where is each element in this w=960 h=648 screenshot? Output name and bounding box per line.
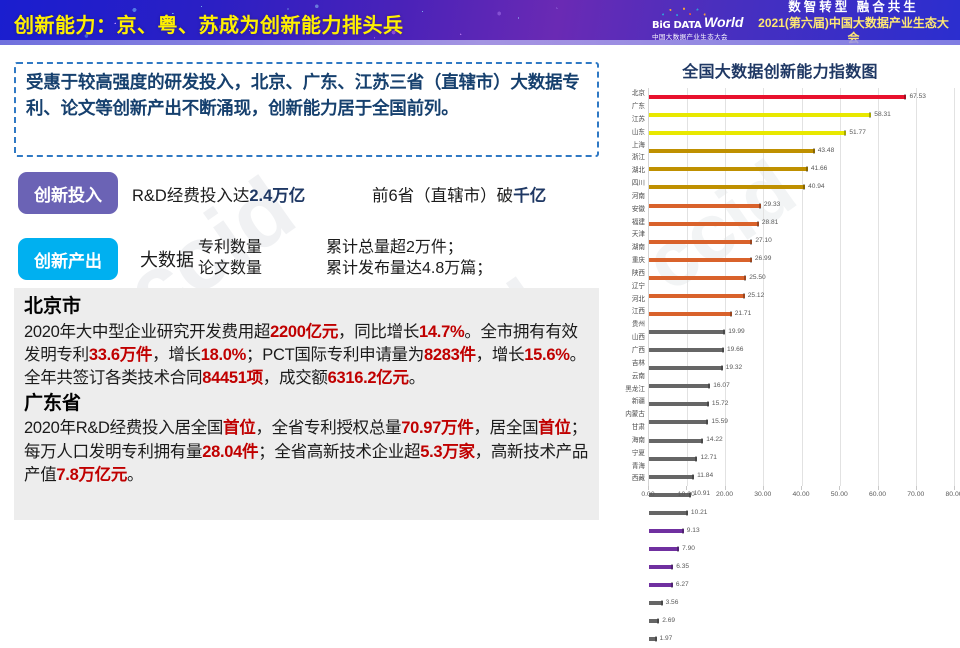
chart-bar-value-label: 51.77 xyxy=(849,130,866,137)
innovation-input-metric-b: 前6省（直辖市）破千亿 xyxy=(372,182,546,206)
chart-bar-row[interactable]: 2.69 xyxy=(649,612,954,630)
chart-axis-tick-label: 60.00 xyxy=(869,491,886,498)
output-label-patents: 专利数量 xyxy=(198,238,262,259)
province-detail-title: 广东省 xyxy=(24,391,589,418)
chart-bar-value-label: 6.35 xyxy=(676,564,689,571)
chart-bar-row[interactable]: 12.71 xyxy=(649,450,954,468)
chart-category-label: 广东 xyxy=(606,101,648,114)
chart-axis-tick xyxy=(801,486,802,490)
slogan-line-2: 2021(第六届)中国大数据产业生态大会 xyxy=(755,16,952,45)
chart-bar-row[interactable]: 7.90 xyxy=(649,540,954,558)
chart-category-label: 青海 xyxy=(606,460,648,473)
chart-category-label: 河北 xyxy=(606,294,648,307)
logo-world-text: World xyxy=(704,14,743,30)
chart-bar-row[interactable]: 28.81 xyxy=(649,215,954,233)
chart-axis-tick-label: 70.00 xyxy=(907,491,924,498)
chart-bar[interactable] xyxy=(649,131,846,135)
chart-bar-row[interactable]: 25.50 xyxy=(649,269,954,287)
chart-axis-tick xyxy=(839,486,840,490)
highlight-value: 28.04件 xyxy=(202,443,258,461)
output-label-papers: 论文数量 xyxy=(198,259,262,280)
chart-bar-row[interactable]: 51.77 xyxy=(649,124,954,142)
chart-bar-row[interactable]: 25.12 xyxy=(649,287,954,305)
chart-title: 全国大数据创新能力指数图 xyxy=(606,58,954,82)
chart-category-label: 西藏 xyxy=(606,473,648,486)
output-subject-label: 大数据 xyxy=(140,246,194,272)
chart-bar-value-label: 29.33 xyxy=(764,202,781,209)
highlight-value: 15.6% xyxy=(524,346,569,364)
chart-category-axis: 北京广东江苏山东上海浙江湖北四川河南安徽福建天津湖南重庆陕西辽宁河北江西贵州山西… xyxy=(606,88,648,486)
chart-category-label: 宁夏 xyxy=(606,448,648,461)
chart-bar[interactable] xyxy=(649,420,708,424)
page-title: 创新能力：京、粤、苏成为创新能力排头兵 xyxy=(14,9,404,38)
chart-category-label: 山西 xyxy=(606,332,648,345)
chart-bar-value-label: 19.32 xyxy=(726,365,743,372)
chart-bar-value-label: 3.56 xyxy=(666,600,679,607)
chart-bar-value-label: 21.71 xyxy=(735,311,752,318)
chart-bar-row[interactable]: 19.66 xyxy=(649,341,954,359)
chart-bar-row[interactable]: 58.31 xyxy=(649,106,954,124)
chart-bar-value-label: 25.12 xyxy=(748,293,765,300)
chart-category-label: 江苏 xyxy=(606,114,648,127)
chart-category-label: 吉林 xyxy=(606,358,648,371)
slide-header: 创新能力：京、粤、苏成为创新能力排头兵 BiG DATA World 中国大数据… xyxy=(0,0,960,45)
highlight-value: 8283件 xyxy=(424,346,476,364)
detail-text-run: ，增长 xyxy=(152,346,201,364)
detail-text-run: ，居全国 xyxy=(473,419,538,437)
chart-bar-row[interactable]: 16.07 xyxy=(649,377,954,395)
highlight-value: 2200亿元 xyxy=(270,323,338,341)
output-metric-values: 累计总量超2万件； 累计发布量达4.8万篇； xyxy=(326,238,492,280)
chart-bar-row[interactable]: 21.71 xyxy=(649,305,954,323)
chart-bar-value-label: 9.13 xyxy=(687,528,700,535)
highlight-value: 首位 xyxy=(223,419,255,437)
chart-bar-value-label: 26.99 xyxy=(755,256,772,263)
chart-category-label: 陕西 xyxy=(606,268,648,281)
chart-bar-row[interactable]: 41.66 xyxy=(649,160,954,178)
chart-category-label: 黑龙江 xyxy=(606,383,648,396)
chart-bar-value-label: 67.53 xyxy=(909,94,926,101)
chart-bar[interactable] xyxy=(649,402,709,406)
chart-bar[interactable] xyxy=(649,222,759,226)
chart-gridline xyxy=(954,88,955,486)
chart-axis-tick xyxy=(878,486,879,490)
highlight-value: 70.97万件 xyxy=(401,419,473,437)
chart-bar[interactable] xyxy=(649,167,808,171)
chart-category-label: 四川 xyxy=(606,178,648,191)
chart-bar-row[interactable]: 27.10 xyxy=(649,233,954,251)
chart-bar-value-label: 15.59 xyxy=(711,419,728,426)
chart-bar[interactable] xyxy=(649,511,688,515)
chart-bar-row[interactable]: 29.33 xyxy=(649,196,954,214)
chart-bar-row[interactable]: 19.32 xyxy=(649,359,954,377)
chart-category-label: 山东 xyxy=(606,127,648,140)
chart-axis-tick-label: 30.00 xyxy=(754,491,771,498)
chart-bar[interactable] xyxy=(649,204,761,208)
chart-panel: 全国大数据创新能力指数图 北京广东江苏山东上海浙江湖北四川河南安徽福建天津湖南重… xyxy=(606,58,954,530)
chart-bar[interactable] xyxy=(649,439,703,443)
chart-axis-tick xyxy=(763,486,764,490)
chart-bar-row[interactable]: 19.99 xyxy=(649,323,954,341)
chart-bar-value-label: 16.07 xyxy=(713,383,730,390)
chart-category-label: 河南 xyxy=(606,191,648,204)
chart-bars-container: 67.5358.3151.7743.4841.6640.9429.3328.81… xyxy=(648,88,954,486)
detail-text-run: ；全省高新技术企业超 xyxy=(258,443,420,461)
chart-bar[interactable] xyxy=(649,384,710,388)
detail-text-run: 2020年大中型企业研究开发费用超 xyxy=(24,323,270,341)
highlight-value: 33.6万件 xyxy=(89,346,152,364)
province-detail-body: 北京市2020年大中型企业研究开发费用超2200亿元，同比增长14.7%。全市拥… xyxy=(24,294,589,488)
chart-axis-tick xyxy=(648,486,649,490)
chart-bar-row[interactable]: 6.27 xyxy=(649,576,954,594)
chart-bar[interactable] xyxy=(649,294,745,298)
detail-text-run: ，成交额 xyxy=(263,369,328,387)
chart-axis-tick xyxy=(954,486,955,490)
chart-category-label: 上海 xyxy=(606,139,648,152)
chart-bar-value-label: 12.71 xyxy=(700,455,717,462)
chart-bar[interactable] xyxy=(649,366,723,370)
chart-category-label: 江西 xyxy=(606,306,648,319)
chart-bar[interactable] xyxy=(649,149,815,153)
chart-bar-row[interactable]: 67.53 xyxy=(649,88,954,106)
chart-bar[interactable] xyxy=(649,330,725,334)
chart-bar-value-label: 10.21 xyxy=(691,510,708,517)
chart-bar-value-label: 28.81 xyxy=(762,220,779,227)
badge-innovation-output: 创新产出 xyxy=(18,238,118,280)
detail-text-run: ，全省专利授权总量 xyxy=(255,419,401,437)
logo-subtitle-text: 中国大数据产业生态大会 xyxy=(652,31,728,41)
chart-plot-area: 北京广东江苏山东上海浙江湖北四川河南安徽福建天津湖南重庆陕西辽宁河北江西贵州山西… xyxy=(606,88,954,503)
chart-bar-value-label: 58.31 xyxy=(874,112,891,119)
bigdata-world-logo: BiG DATA World 中国大数据产业生态大会 xyxy=(652,6,747,40)
chart-bar-row[interactable]: 26.99 xyxy=(649,251,954,269)
output-metric-labels: 专利数量 论文数量 xyxy=(198,238,262,280)
chart-axis-tick-label: 50.00 xyxy=(831,491,848,498)
chart-category-label: 海南 xyxy=(606,435,648,448)
chart-bar-row[interactable]: 15.59 xyxy=(649,413,954,431)
chart-bar[interactable] xyxy=(649,547,679,551)
chart-bar-value-label: 41.66 xyxy=(811,166,828,173)
chart-axis-tick-label: 10.00 xyxy=(678,491,695,498)
chart-bar-row[interactable]: 14.22 xyxy=(649,431,954,449)
chart-category-label: 重庆 xyxy=(606,255,648,268)
chart-bar[interactable] xyxy=(649,637,657,641)
chart-bar-value-label: 19.99 xyxy=(728,329,745,336)
chart-bar-row[interactable]: 43.48 xyxy=(649,142,954,160)
detail-text-run: ；PCT国际专利申请量为 xyxy=(246,346,424,364)
chart-bar[interactable] xyxy=(649,312,732,316)
summary-callout-text: 受惠于较高强度的研发投入，北京、广东、江苏三省（直辖市）大数据专利、论文等创新产… xyxy=(26,70,587,122)
summary-callout-box: 受惠于较高强度的研发投入，北京、广东、江苏三省（直辖市）大数据专利、论文等创新产… xyxy=(14,62,599,157)
highlight-value: 84451项 xyxy=(202,369,263,387)
chart-bar[interactable] xyxy=(649,583,673,587)
chart-bar[interactable] xyxy=(649,185,805,189)
chart-category-label: 北京 xyxy=(606,88,648,101)
chart-bar[interactable] xyxy=(649,95,906,99)
chart-category-label: 辽宁 xyxy=(606,281,648,294)
chart-bar[interactable] xyxy=(649,348,724,352)
chart-category-label: 浙江 xyxy=(606,152,648,165)
chart-bar-row[interactable]: 40.94 xyxy=(649,178,954,196)
chart-value-axis: 0.0010.0020.0030.0040.0050.0060.0070.008… xyxy=(648,486,954,504)
chart-bar-value-label: 27.10 xyxy=(755,238,772,245)
conference-branding: BiG DATA World 中国大数据产业生态大会 数智转型 融合共生 202… xyxy=(652,3,952,43)
detail-text-run: 。 xyxy=(127,466,143,484)
chart-bar-row[interactable]: 6.35 xyxy=(649,558,954,576)
chart-bar-value-label: 15.72 xyxy=(712,401,729,408)
detail-text-run: ，同比增长 xyxy=(338,323,419,341)
province-detail-text: 2020年大中型企业研究开发费用超2200亿元，同比增长14.7%。全市拥有有效… xyxy=(24,321,589,391)
chart-bar[interactable] xyxy=(649,529,684,533)
chart-bar-value-label: 43.48 xyxy=(818,148,835,155)
chart-axis-tick xyxy=(725,486,726,490)
chart-bar-row[interactable]: 1.97 xyxy=(649,630,954,648)
chart-bar-row[interactable]: 15.72 xyxy=(649,395,954,413)
chart-category-label: 新疆 xyxy=(606,396,648,409)
chart-axis-tick-label: 20.00 xyxy=(716,491,733,498)
detail-text-run: 2020年R&D经费投入居全国 xyxy=(24,419,223,437)
chart-bar-row[interactable]: 10.21 xyxy=(649,504,954,522)
chart-bar-value-label: 40.94 xyxy=(808,184,825,191)
chart-category-label: 湖南 xyxy=(606,242,648,255)
chart-axis-tick xyxy=(686,486,687,490)
highlight-value: 18.0% xyxy=(201,346,246,364)
chart-bar[interactable] xyxy=(649,276,746,280)
chart-bar-value-label: 6.27 xyxy=(676,582,689,589)
chart-category-label: 云南 xyxy=(606,371,648,384)
chart-bar-value-label: 19.66 xyxy=(727,347,744,354)
output-value-papers: 累计发布量达4.8万篇； xyxy=(326,259,492,280)
chart-category-label: 福建 xyxy=(606,216,648,229)
highlight-value: 5.3万家 xyxy=(420,443,474,461)
chart-axis-tick-labels: 0.0010.0020.0030.0040.0050.0060.0070.008… xyxy=(648,491,954,503)
chart-bar[interactable] xyxy=(649,619,659,623)
badge-innovation-input: 创新投入 xyxy=(18,172,118,214)
conference-slogan: 数智转型 融合共生 2021(第六届)中国大数据产业生态大会 xyxy=(755,0,952,45)
chart-category-label: 安徽 xyxy=(606,204,648,217)
output-value-patents: 累计总量超2万件； xyxy=(326,238,492,259)
chart-axis-tick xyxy=(916,486,917,490)
chart-bar-value-label: 2.69 xyxy=(662,618,675,625)
chart-axis-tick-label: 40.00 xyxy=(792,491,809,498)
innovation-output-row: 大数据 专利数量 论文数量 累计总量超2万件； 累计发布量达4.8万篇； xyxy=(140,238,600,280)
innovation-input-row: R&D经费投入达2.4万亿 前6省（直辖市）破千亿 xyxy=(132,182,592,206)
detail-text-run: ，增长 xyxy=(476,346,525,364)
chart-bar[interactable] xyxy=(649,240,752,244)
chart-category-label: 广西 xyxy=(606,345,648,358)
highlight-value: 14.7% xyxy=(419,323,464,341)
province-detail-panel: 北京市2020年大中型企业研究开发费用超2200亿元，同比增长14.7%。全市拥… xyxy=(14,288,599,520)
chart-bar-value-label: 1.97 xyxy=(660,636,673,643)
chart-bar[interactable] xyxy=(649,457,697,461)
chart-bar[interactable] xyxy=(649,475,694,479)
province-detail-title: 北京市 xyxy=(24,294,589,321)
highlight-value: 7.8万亿元 xyxy=(56,466,127,484)
chart-bar-value-label: 25.50 xyxy=(749,275,766,282)
chart-bar[interactable] xyxy=(649,113,871,117)
chart-category-label: 内蒙古 xyxy=(606,409,648,422)
chart-bar[interactable] xyxy=(649,565,673,569)
chart-bar-value-label: 7.90 xyxy=(682,546,695,553)
chart-bar-row[interactable]: 9.13 xyxy=(649,522,954,540)
chart-bar-row[interactable]: 3.56 xyxy=(649,594,954,612)
highlight-value: 6316.2亿元 xyxy=(328,369,409,387)
highlight-value: 首位 xyxy=(538,419,570,437)
chart-category-label: 天津 xyxy=(606,229,648,242)
slogan-line-1: 数智转型 融合共生 xyxy=(755,0,952,16)
chart-bar-row[interactable]: 11.84 xyxy=(649,468,954,486)
chart-category-label: 湖北 xyxy=(606,165,648,178)
detail-text-run: 。 xyxy=(409,369,425,387)
chart-bar-value-label: 14.22 xyxy=(706,437,723,444)
chart-category-label: 贵州 xyxy=(606,319,648,332)
chart-bar[interactable] xyxy=(649,601,663,605)
chart-axis-ticks xyxy=(648,486,954,490)
chart-bar-value-label: 11.84 xyxy=(697,473,713,480)
chart-category-label: 甘肃 xyxy=(606,422,648,435)
province-detail-text: 2020年R&D经费投入居全国首位，全省专利授权总量70.97万件，居全国首位；… xyxy=(24,417,589,487)
logo-bigdata-text: BiG DATA xyxy=(652,20,701,31)
chart-axis-tick-label: 80.00 xyxy=(945,491,960,498)
chart-axis-tick-label: 0.00 xyxy=(641,491,654,498)
chart-bar[interactable] xyxy=(649,258,752,262)
innovation-input-metric-a: R&D经费投入达2.4万亿 xyxy=(132,182,372,206)
